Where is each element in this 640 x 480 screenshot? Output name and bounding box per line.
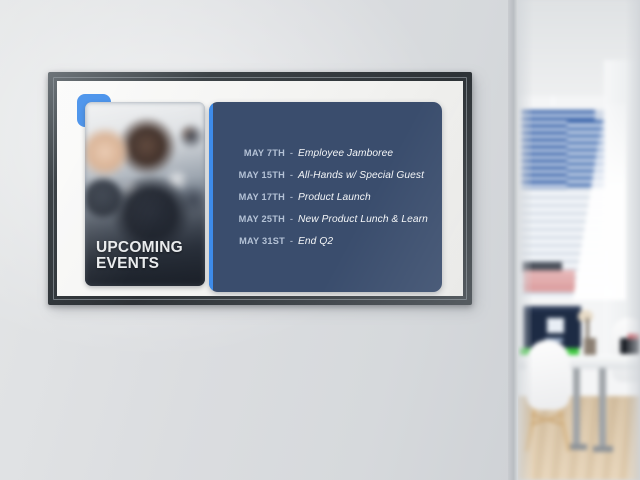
event-date: MAY 15TH: [217, 170, 285, 180]
event-separator: -: [285, 148, 298, 159]
wall-mounted-display-frame[interactable]: UPCOMING EVENTS MAY 7TH - Employee Jambo…: [48, 72, 472, 305]
desk-leg-right: [599, 368, 606, 450]
events-panel: MAY 7TH - Employee Jamboree MAY 15TH - A…: [209, 102, 442, 292]
slide-canvas: UPCOMING EVENTS MAY 7TH - Employee Jambo…: [57, 81, 463, 296]
event-separator: -: [285, 170, 298, 181]
event-separator: -: [285, 236, 298, 247]
background-office-room: [516, 0, 640, 480]
event-separator: -: [285, 214, 298, 225]
panel-accent-stripe: [209, 102, 213, 292]
event-title: New Product Lunch & Learn: [298, 214, 428, 225]
event-date: MAY 25TH: [217, 214, 285, 224]
event-title: All-Hands w/ Special Guest: [298, 170, 424, 181]
red-building-block: [523, 270, 575, 292]
list-item: MAY 25TH - New Product Lunch & Learn: [217, 214, 436, 225]
list-item: MAY 15TH - All-Hands w/ Special Guest: [217, 170, 436, 181]
monitor-top-bar: [523, 306, 581, 311]
desk-foot-right: [593, 446, 613, 452]
event-date: MAY 31ST: [217, 236, 285, 246]
event-date: MAY 17TH: [217, 192, 285, 202]
slide-heading-line2: EVENTS: [96, 256, 183, 272]
event-title: Product Launch: [298, 192, 371, 203]
list-item: MAY 7TH - Employee Jamboree: [217, 148, 436, 159]
desk-phone: [620, 338, 640, 354]
event-separator: -: [285, 192, 298, 203]
white-chair: [526, 340, 570, 410]
events-list: MAY 7TH - Employee Jamboree MAY 15TH - A…: [215, 102, 442, 292]
list-item: MAY 17TH - Product Launch: [217, 192, 436, 203]
ceiling-light-icon: [551, 96, 555, 106]
slide-heading: UPCOMING EVENTS: [96, 240, 183, 272]
desk-leg-left: [573, 368, 580, 448]
monitor-window-pane: [547, 318, 564, 333]
event-date: MAY 7TH: [217, 148, 285, 158]
event-title: Employee Jamboree: [298, 148, 393, 159]
slide-heading-line1: UPCOMING: [96, 240, 183, 256]
list-item: MAY 31ST - End Q2: [217, 236, 436, 247]
red-desk-object: [628, 334, 640, 339]
scene-root: UPCOMING EVENTS MAY 7TH - Employee Jambo…: [0, 0, 640, 480]
wall-corner-edge: [508, 0, 518, 480]
event-photo-card: UPCOMING EVENTS: [85, 102, 205, 286]
event-title: End Q2: [298, 236, 333, 247]
